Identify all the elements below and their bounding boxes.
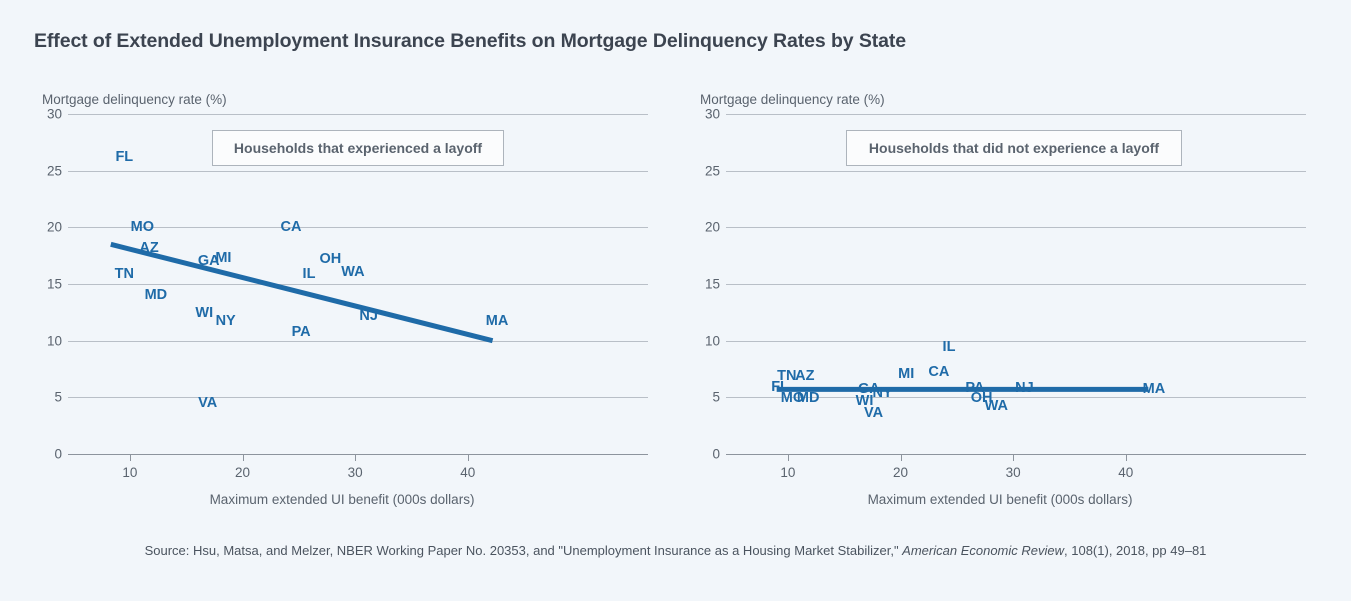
chart-panel-right: Mortgage delinquency rate (%) 0510152025… xyxy=(694,92,1339,512)
data-point-label-ma: MA xyxy=(1143,382,1166,397)
data-point-label-nj: NJ xyxy=(359,308,378,323)
source-journal: American Economic Review xyxy=(902,543,1064,558)
data-point-label-fl: FL xyxy=(115,150,133,165)
x-axis-tick-label: 30 xyxy=(1006,465,1021,480)
data-point-label-ca: CA xyxy=(281,220,302,235)
data-point-label-il: IL xyxy=(303,267,316,282)
data-point-label-nj: NJ xyxy=(1015,381,1034,396)
y-axis-label: Mortgage delinquency rate (%) xyxy=(700,92,885,107)
data-point-label-az: AZ xyxy=(795,369,814,384)
data-point-label-pa: PA xyxy=(292,324,311,339)
data-point-label-tn: TN xyxy=(115,267,134,282)
legend-label-left: Households that experienced a layoff xyxy=(212,130,504,166)
data-point-label-md: MD xyxy=(797,391,820,406)
x-axis-tick-label: 30 xyxy=(348,465,363,480)
data-point-label-va: VA xyxy=(198,396,217,411)
data-point-label-az: AZ xyxy=(139,240,158,255)
x-axis-tick-mark xyxy=(1126,454,1127,461)
data-point-label-mi: MI xyxy=(898,366,914,381)
x-axis-tick-label: 10 xyxy=(780,465,795,480)
x-axis-tick-mark xyxy=(1013,454,1014,461)
data-point-label-ma: MA xyxy=(486,314,509,329)
x-axis-tick-label: 20 xyxy=(235,465,250,480)
source-note: Source: Hsu, Matsa, and Melzer, NBER Wor… xyxy=(0,543,1351,558)
x-axis-tick-mark xyxy=(130,454,131,461)
data-point-label-ny: NY xyxy=(872,386,892,401)
data-point-label-wa: WA xyxy=(985,399,1008,414)
y-axis-label: Mortgage delinquency rate (%) xyxy=(42,92,227,107)
x-axis-tick-label: 10 xyxy=(122,465,137,480)
chart-panel-left: Mortgage delinquency rate (%) 0510152025… xyxy=(36,92,681,512)
x-axis-label: Maximum extended UI benefit (000s dollar… xyxy=(694,492,1306,507)
data-point-label-oh: OH xyxy=(320,252,342,267)
x-axis-tick-label: 40 xyxy=(1118,465,1133,480)
x-axis-line xyxy=(68,454,648,455)
source-prefix: Source: Hsu, Matsa, and Melzer, NBER Wor… xyxy=(145,543,903,558)
source-suffix: , 108(1), 2018, pp 49–81 xyxy=(1064,543,1206,558)
x-axis-tick-mark xyxy=(355,454,356,461)
x-axis-tick-mark xyxy=(243,454,244,461)
data-point-label-mo: MO xyxy=(131,220,154,235)
data-point-label-md: MD xyxy=(145,288,168,303)
page-title: Effect of Extended Unemployment Insuranc… xyxy=(34,30,906,53)
x-axis-tick-label: 40 xyxy=(460,465,475,480)
legend-label-right: Households that did not experience a lay… xyxy=(846,130,1182,166)
x-axis-tick-label: 20 xyxy=(893,465,908,480)
x-axis-tick-mark xyxy=(901,454,902,461)
data-point-label-ca: CA xyxy=(928,365,949,380)
x-axis-line xyxy=(726,454,1306,455)
x-axis-tick-mark xyxy=(468,454,469,461)
data-point-label-mi: MI xyxy=(215,251,231,266)
x-axis-label: Maximum extended UI benefit (000s dollar… xyxy=(36,492,648,507)
data-point-label-ny: NY xyxy=(216,314,236,329)
data-point-label-il: IL xyxy=(943,340,956,355)
data-point-label-va: VA xyxy=(864,406,883,421)
x-axis-tick-mark xyxy=(788,454,789,461)
data-point-label-wi: WI xyxy=(195,306,213,321)
data-point-label-wa: WA xyxy=(341,264,364,279)
figure-root: Effect of Extended Unemployment Insuranc… xyxy=(0,0,1351,601)
